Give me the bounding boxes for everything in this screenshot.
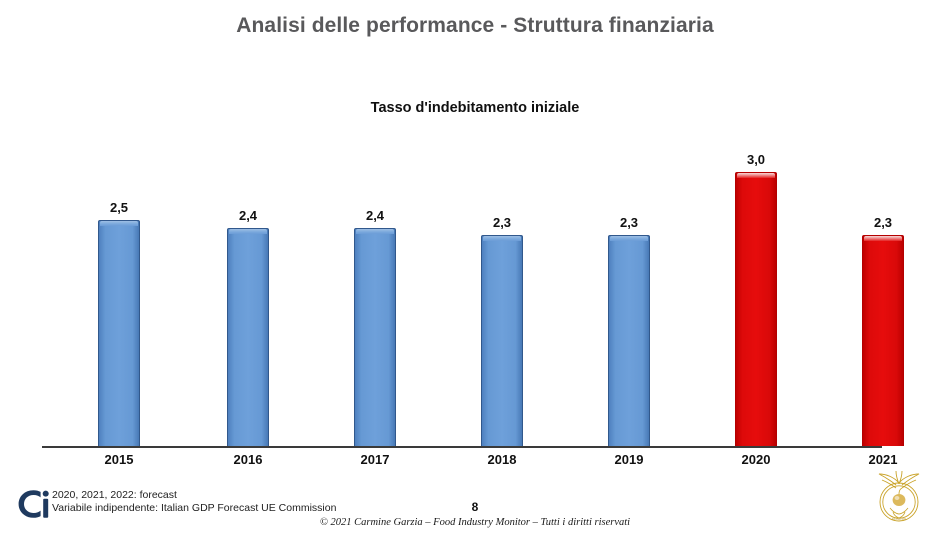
bar-slot-2016: 2,4 2016: [193, 75, 303, 446]
x-tick-label-2019: 2019: [574, 452, 684, 467]
bar-slot-2018: 2,3 2018: [447, 75, 557, 446]
bar-value-label: 2,3: [620, 215, 638, 230]
bar-slot-2021: 2,3 2021: [828, 75, 938, 446]
page-number: 8: [0, 500, 950, 514]
x-tick-label-2020: 2020: [701, 452, 811, 467]
bar-wrapper: 2,3: [862, 235, 904, 446]
bar-value-label: 3,0: [747, 152, 765, 167]
bar-wrapper: 2,3: [481, 235, 523, 446]
x-tick-label-2015: 2015: [64, 452, 174, 467]
bar-slot-2019: 2,3 2019: [574, 75, 684, 446]
bar-2017[interactable]: 2,4: [354, 228, 396, 446]
bar-wrapper: 3,0: [735, 172, 777, 446]
chart-plot-area: 2,5 2015 2,4 2016 2,4 2017: [40, 75, 910, 475]
bar-2018[interactable]: 2,3: [481, 235, 523, 446]
bar-2021[interactable]: 2,3: [862, 235, 904, 446]
x-tick-label-2021: 2021: [828, 452, 938, 467]
bar-value-label: 2,4: [239, 208, 257, 223]
x-axis-line: [42, 446, 882, 448]
bar-value-label: 2,5: [110, 200, 128, 215]
bar-slot-2017: 2,4 2017: [320, 75, 430, 446]
x-tick-label-2017: 2017: [320, 452, 430, 467]
bar-chart: Tasso d'indebitamento iniziale 2,5 2015 …: [0, 75, 950, 475]
bar-wrapper: 2,5: [98, 220, 140, 446]
svg-text:MONITOR: MONITOR: [892, 517, 907, 521]
page-title: Analisi delle performance - Struttura fi…: [0, 14, 950, 38]
copyright-notice: © 2021 Carmine Garzia – Food Industry Mo…: [0, 517, 950, 528]
x-tick-label-2016: 2016: [193, 452, 303, 467]
bar-2016[interactable]: 2,4: [227, 228, 269, 446]
bar-value-label: 2,3: [874, 215, 892, 230]
bar-slot-2015: 2,5 2015: [64, 75, 174, 446]
bar-wrapper: 2,4: [354, 228, 396, 446]
bar-2019[interactable]: 2,3: [608, 235, 650, 446]
bar-2020[interactable]: 3,0: [735, 172, 777, 446]
bar-2015[interactable]: 2,5: [98, 220, 140, 446]
bar-value-label: 2,3: [493, 215, 511, 230]
bar-wrapper: 2,4: [227, 228, 269, 446]
bar-slot-2020: 3,0 2020: [701, 75, 811, 446]
crest-seal-icon: MONITOR: [866, 468, 932, 528]
bar-wrapper: 2,3: [608, 235, 650, 446]
bar-value-label: 2,4: [366, 208, 384, 223]
x-tick-label-2018: 2018: [447, 452, 557, 467]
